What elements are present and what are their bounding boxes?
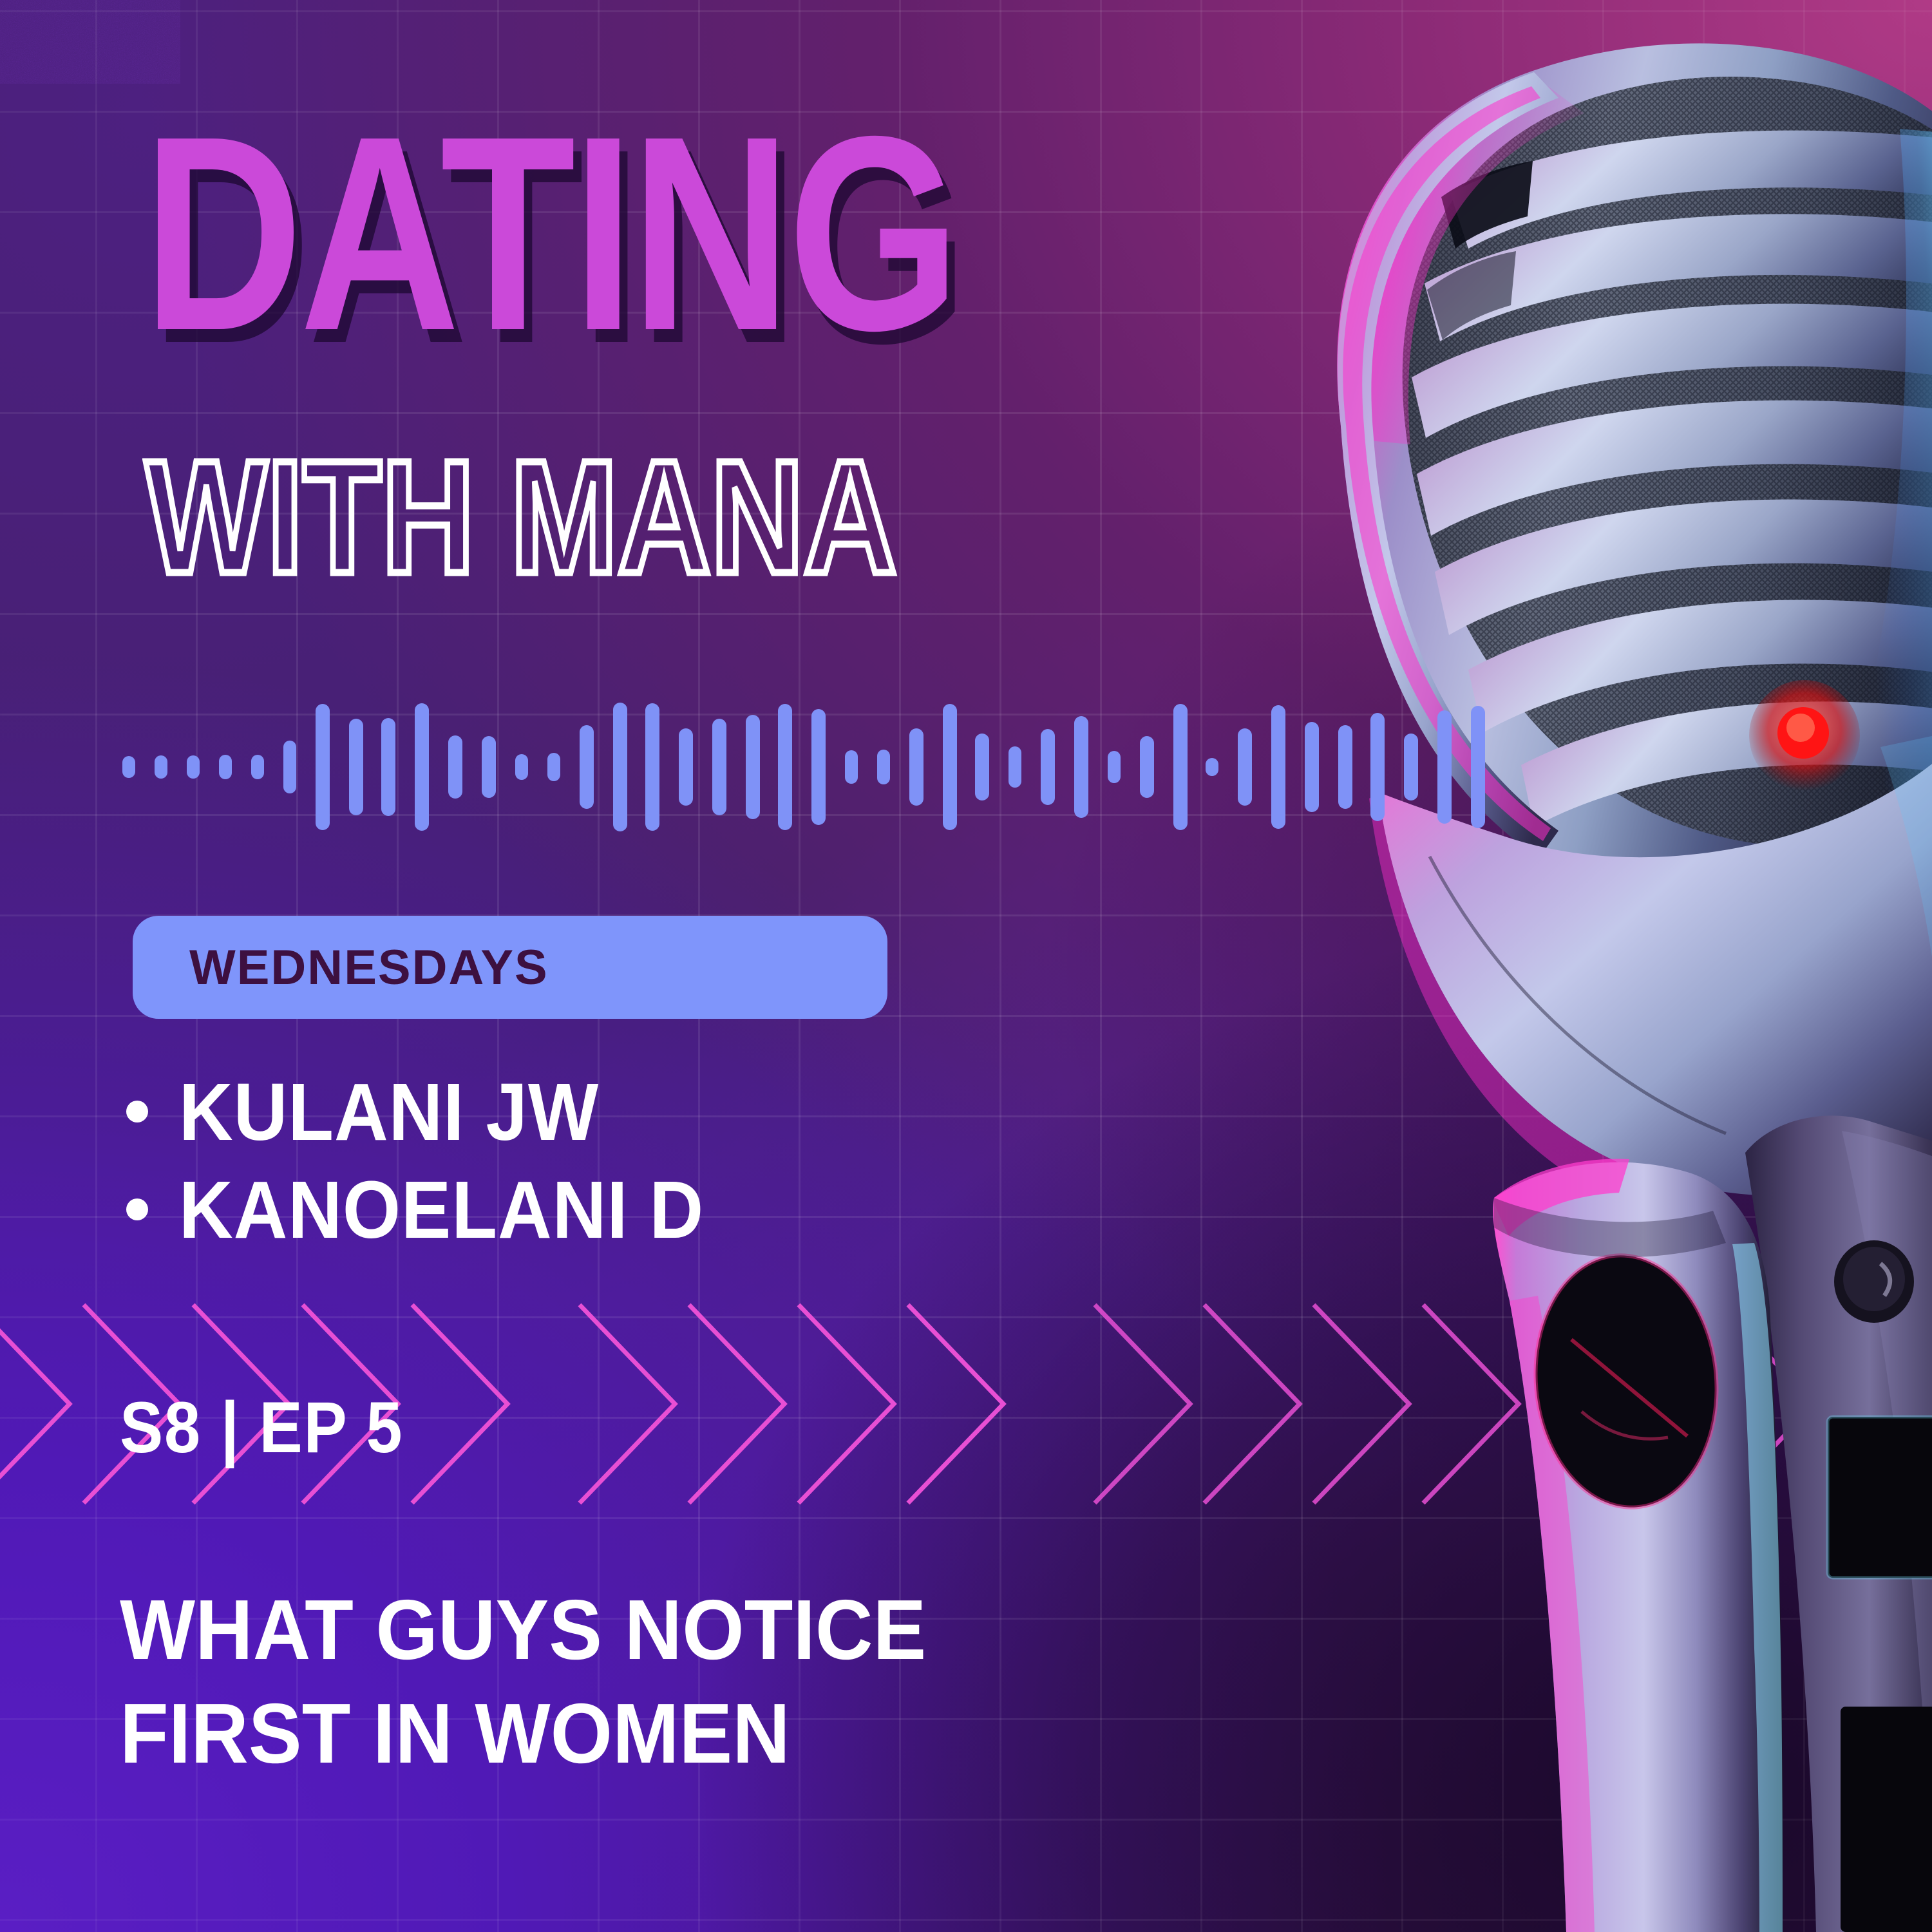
schedule-badge-label: WEDNESDAYS [189,940,549,996]
waveform-bar [1437,710,1452,824]
waveform-bar [547,753,560,781]
waveform-bar [219,755,232,779]
host-list: KULANI JWKANOELANI D [126,1063,1092,1258]
waveform-bar [679,728,693,806]
waveform-bar [943,704,957,830]
waveform-bar [349,719,363,815]
page-title: DATING [143,126,957,342]
host-name: KANOELANI D [179,1163,704,1256]
waveform-bar [877,750,890,784]
waveform-bar [251,755,264,779]
host-list-item: KANOELANI D [126,1160,1092,1258]
waveform-bar [580,725,594,809]
waveform-bar [283,741,296,793]
waveform-bar [645,703,659,831]
host-list-item: KULANI JW [126,1063,1092,1160]
waveform-bar [1471,706,1485,828]
waveform-bar [845,750,858,784]
waveform-bar [187,755,200,779]
waveform-bar [1338,725,1352,809]
host-name: KULANI JW [179,1065,599,1159]
waveform-bar [1140,736,1154,798]
waveform-bar [482,736,496,798]
schedule-badge: WEDNESDAYS [133,916,887,1019]
episode-title-line-1: WHAT GUYS NOTICE [120,1578,926,1681]
waveform-bar [975,734,989,800]
waveform-bar [909,728,923,806]
waveform-bar [448,735,462,799]
waveform-bar [613,703,627,831]
episode-tag: S8 | EP 5 [120,1386,403,1469]
waveform-bar [1271,705,1285,829]
audio-waveform-icon [122,697,1146,836]
bullet-icon [126,1101,148,1122]
page-subtitle: WITH MANA [146,451,896,583]
waveform-bar [1009,746,1021,788]
waveform-bar [1173,704,1188,830]
waveform-bar [1074,716,1088,818]
episode-title: WHAT GUYS NOTICE FIRST IN WOMEN [120,1578,926,1785]
waveform-bar [1206,758,1218,776]
waveform-bar [122,756,135,778]
podcast-cover-art: DATING WITH MANA WEDNESDAYS KULANI JWKAN… [0,0,1932,1932]
waveform-bar [381,718,395,816]
waveform-bar [316,704,330,830]
waveform-bar [515,754,528,780]
waveform-bar [155,755,167,779]
episode-title-line-2: FIRST IN WOMEN [120,1681,926,1785]
waveform-bar [415,703,429,831]
waveform-bar [1370,713,1385,821]
waveform-bar [746,715,760,819]
waveform-bar [778,704,792,830]
waveform-bar [1305,722,1319,812]
waveform-bar [811,709,826,825]
waveform-bar [1108,751,1121,783]
bullet-icon [126,1198,148,1220]
waveform-bar [712,719,726,815]
waveform-bar [1041,729,1055,805]
waveform-bar [1238,728,1252,806]
waveform-bar [1404,734,1418,800]
